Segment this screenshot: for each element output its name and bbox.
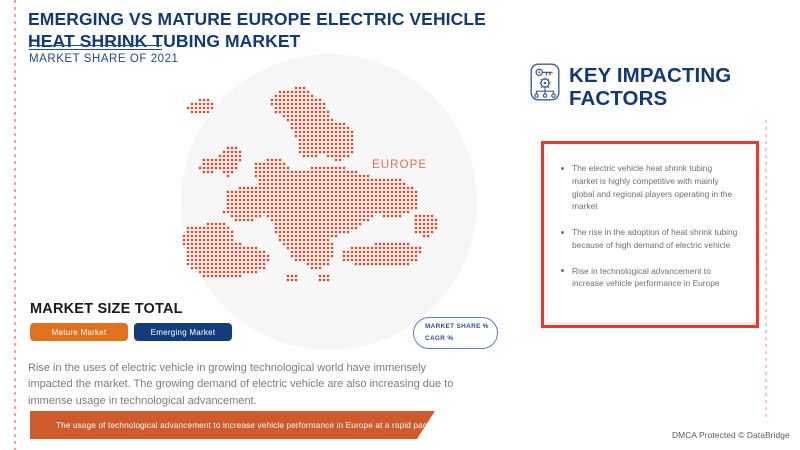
key-gear-icon: [530, 63, 560, 101]
highlight-ribbon: The usage of technological advancement t…: [30, 411, 435, 439]
infographic-canvas: EMERGING VS MATURE EUROPE ELECTRIC VEHIC…: [0, 0, 800, 450]
legend-pill-emerging-market[interactable]: Emerging Market: [134, 323, 232, 341]
market-share-line: MARKET SHARE %: [425, 321, 497, 333]
legend-pill-mature-market[interactable]: Mature Market: [30, 323, 128, 341]
list-item: Rise in technological advancement to inc…: [560, 265, 740, 291]
title-underline: [29, 45, 162, 50]
legend-pill-mature-label: Mature Market: [52, 328, 107, 337]
market-size-total-heading: MARKET SIZE TOTAL: [30, 301, 183, 317]
right-dotted-rail: [765, 120, 767, 420]
key-impacting-factors-title: KEY IMPACTING FACTORS: [569, 64, 769, 111]
map-region-label: EUROPE: [372, 159, 427, 171]
list-item: The rise in the adoption of heat shrink …: [560, 226, 740, 252]
market-share-badge: MARKET SHARE % CAGR %: [413, 317, 498, 349]
legend-pill-emerging-label: Emerging Market: [151, 328, 216, 337]
europe-dotted-map: [150, 50, 450, 350]
list-item: The electric vehicle heat shrink tubing …: [560, 162, 740, 213]
key-factors-card: The electric vehicle heat shrink tubing …: [548, 150, 754, 322]
key-factors-list: The electric vehicle heat shrink tubing …: [560, 162, 740, 290]
body-paragraph: Rise in the uses of electric vehicle in …: [28, 360, 458, 409]
footer-attribution: DMCA Protected © DataBridge: [672, 430, 790, 440]
cagr-line: CAGR %: [425, 333, 497, 345]
left-dotted-rail: [14, 0, 16, 450]
highlight-ribbon-text: The usage of technological advancement t…: [30, 421, 434, 430]
